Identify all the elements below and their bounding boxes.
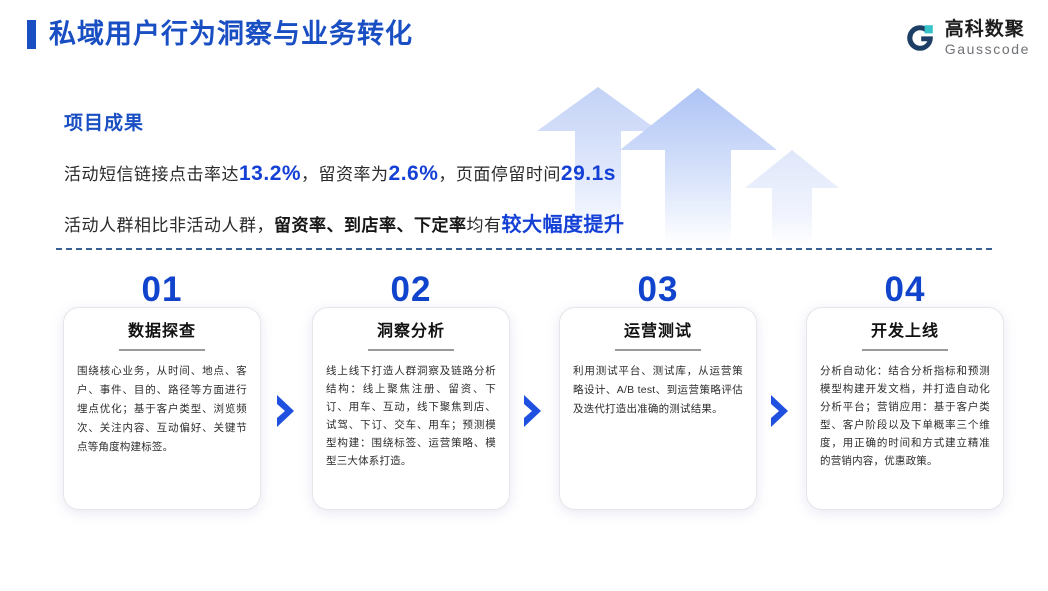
title-marker (27, 20, 36, 49)
step-card-body-01[interactable]: 数据探查 围绕核心业务，从时间、地点、客户、事件、目的、路径等方面进行埋点优化；… (63, 307, 261, 510)
step-title-rule-01 (119, 349, 205, 351)
slide-header: 私域用户行为洞察与业务转化 高科数聚 Gausscode (0, 0, 1048, 76)
page-title-wrap: 私域用户行为洞察与业务转化 (27, 20, 413, 49)
page-title: 私域用户行为洞察与业务转化 (49, 21, 413, 48)
results-line-2-text-2: 均有 (467, 216, 502, 235)
results-line-1-text-1: 活动短信链接点击率达 (64, 165, 239, 184)
metric-click-rate: 13.2% (239, 162, 301, 185)
step-title-rule-03 (615, 349, 701, 351)
step-number-03: 03 (559, 272, 757, 308)
chevron-right-icon-2 (521, 394, 547, 428)
gausscode-logo-icon (904, 22, 936, 54)
step-number-04: 04 (806, 272, 1004, 308)
step-title-02: 洞察分析 (326, 322, 496, 341)
step-card-03[interactable]: 03 运营测试 利用测试平台、测试库，从运营策略设计、A/B test、到运营策… (559, 272, 757, 308)
step-text-04: 分析自动化：结合分析指标和预测模型构建开发文档，并打造自动化分析平台；营销应用：… (820, 362, 990, 470)
chevron-right-icon-3 (768, 394, 794, 428)
step-text-02: 线上线下打造人群洞察及链路分析结构：线上聚焦注册、留资、下订、用车、互动，线下聚… (326, 362, 496, 470)
results-line-2-bold: 留资率、到店率、下定率 (274, 216, 467, 235)
up-arrow-icon-right (745, 150, 839, 245)
step-title-rule-04 (862, 349, 948, 351)
metric-dwell-time: 29.1s (561, 162, 616, 185)
section-divider (56, 248, 992, 250)
step-text-01: 围绕核心业务，从时间、地点、客户、事件、目的、路径等方面进行埋点优化；基于客户类… (77, 362, 247, 456)
step-card-01[interactable]: 01 数据探查 围绕核心业务，从时间、地点、客户、事件、目的、路径等方面进行埋点… (63, 272, 261, 308)
results-line-1-text-3: ，页面停留时间 (438, 165, 561, 184)
step-text-03: 利用测试平台、测试库，从运营策略设计、A/B test、到运营策略评估及迭代打造… (573, 362, 743, 419)
slide-root: 私域用户行为洞察与业务转化 高科数聚 Gausscode 项目成果 活动短信链接… (0, 0, 1048, 591)
steps-row: 01 数据探查 围绕核心业务，从时间、地点、客户、事件、目的、路径等方面进行埋点… (0, 272, 1048, 522)
step-number-02: 02 (312, 272, 510, 308)
step-title-01: 数据探查 (77, 322, 247, 341)
project-results-block: 项目成果 活动短信链接点击率达13.2%，留资率为2.6%，页面停留时间29.1… (64, 108, 625, 259)
results-line-2: 活动人群相比非活动人群，留资率、到店率、下定率均有较大幅度提升 (64, 208, 625, 237)
brand-name-en: Gausscode (945, 42, 1030, 56)
step-title-03: 运营测试 (573, 322, 743, 341)
chevron-right-icon-1 (274, 394, 300, 428)
up-arrow-icon-center (620, 88, 777, 245)
results-highlight-phrase: 较大幅度提升 (502, 214, 625, 236)
results-line-1-text-2: ，留资率为 (301, 165, 389, 184)
step-card-02[interactable]: 02 洞察分析 线上线下打造人群洞察及链路分析结构：线上聚焦注册、留资、下订、用… (312, 272, 510, 308)
step-card-04[interactable]: 04 开发上线 分析自动化：结合分析指标和预测模型构建开发文档，并打造自动化分析… (806, 272, 1004, 308)
step-number-01: 01 (63, 272, 261, 308)
metric-lead-rate: 2.6% (389, 162, 439, 185)
brand-logo-text: 高科数聚 Gausscode (945, 20, 1030, 56)
step-card-body-02[interactable]: 洞察分析 线上线下打造人群洞察及链路分析结构：线上聚焦注册、留资、下订、用车、互… (312, 307, 510, 510)
results-line-1: 活动短信链接点击率达13.2%，留资率为2.6%，页面停留时间29.1s (64, 160, 625, 186)
step-title-04: 开发上线 (820, 322, 990, 341)
brand-name-cn: 高科数聚 (945, 20, 1030, 39)
step-title-rule-02 (368, 349, 454, 351)
results-line-2-text-1: 活动人群相比非活动人群， (64, 216, 274, 235)
brand-logo: 高科数聚 Gausscode (904, 17, 1030, 59)
step-card-body-04[interactable]: 开发上线 分析自动化：结合分析指标和预测模型构建开发文档，并打造自动化分析平台；… (806, 307, 1004, 510)
results-heading: 项目成果 (64, 108, 625, 135)
step-card-body-03[interactable]: 运营测试 利用测试平台、测试库，从运营策略设计、A/B test、到运营策略评估… (559, 307, 757, 510)
